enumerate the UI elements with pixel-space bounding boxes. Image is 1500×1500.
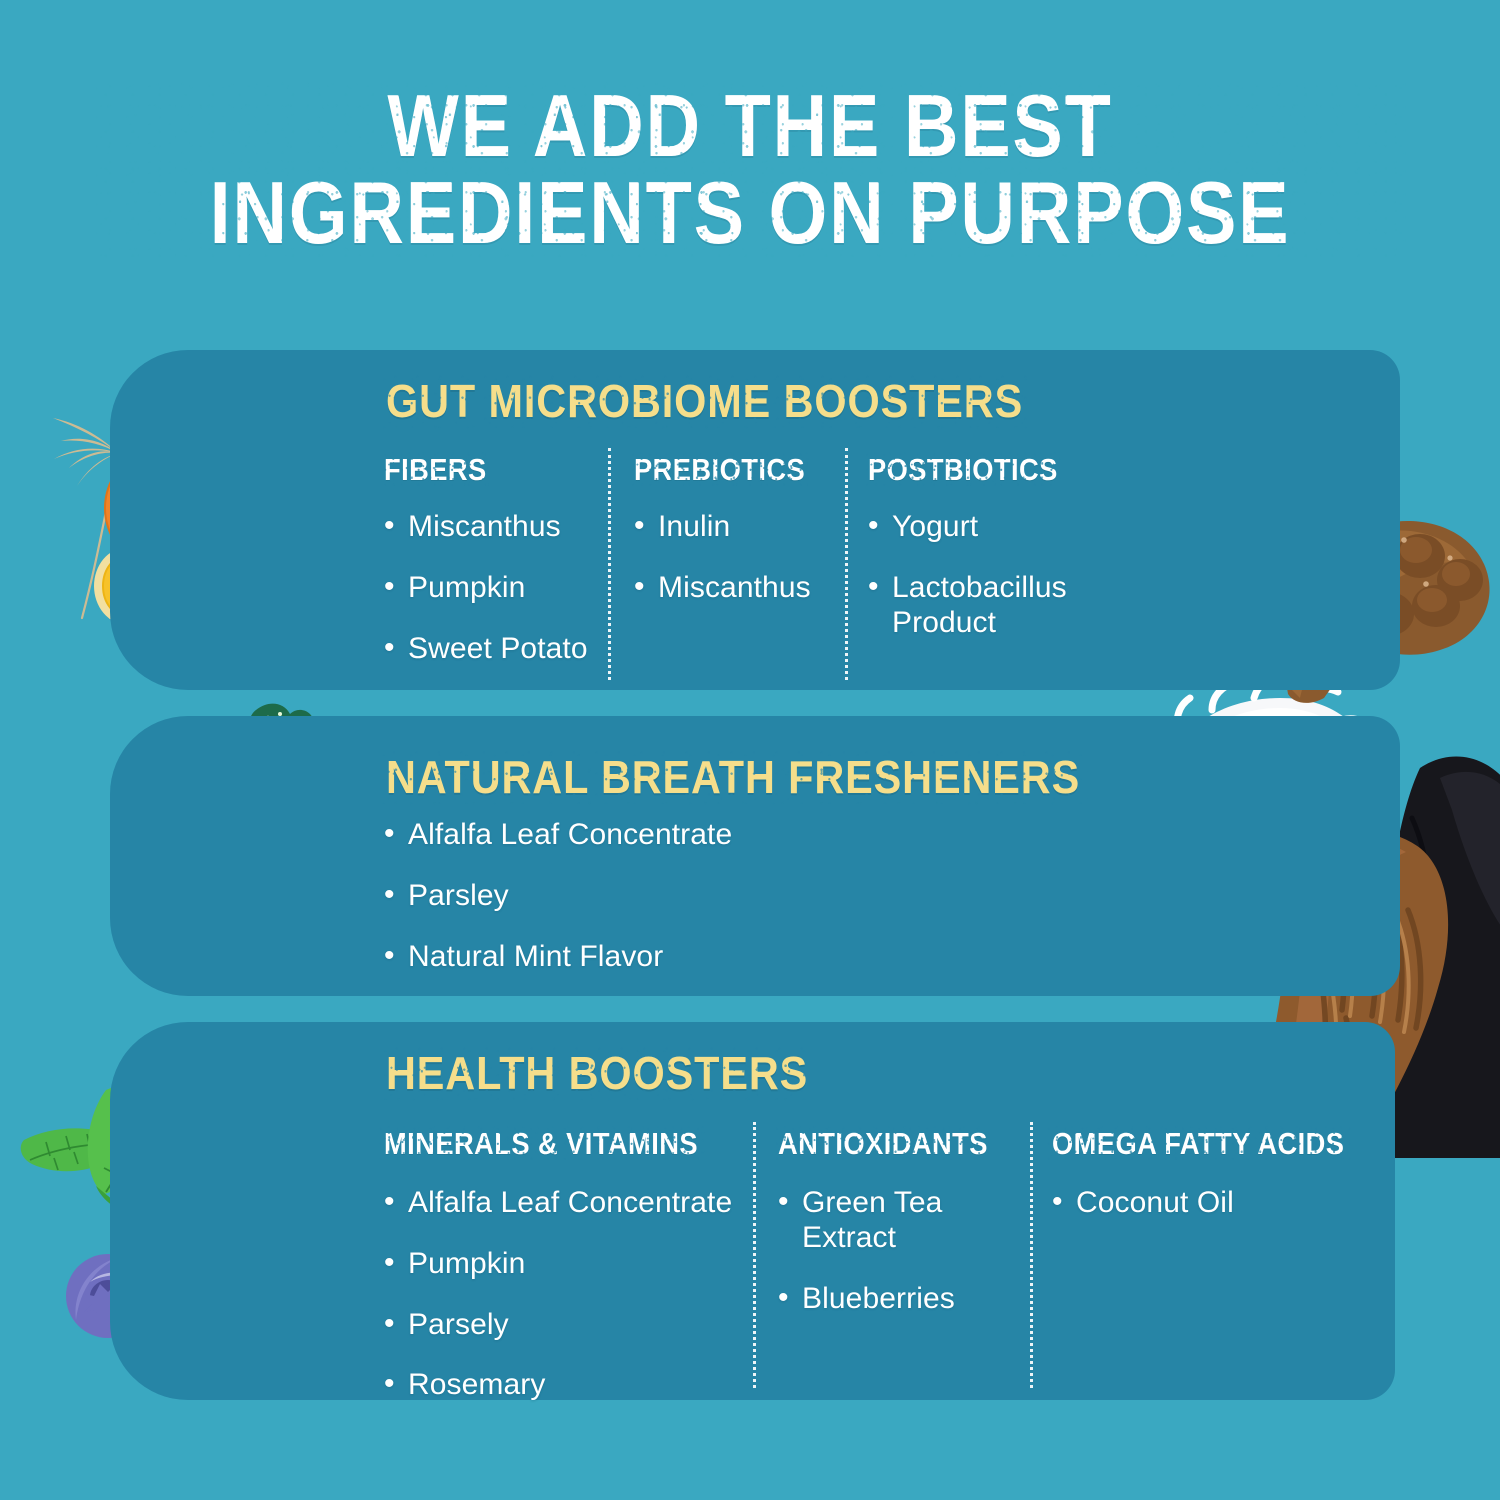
list-item: Rosemary bbox=[384, 1368, 739, 1403]
card3-col1-items: Alfalfa Leaf Concentrate Pumpkin Parsely… bbox=[384, 1186, 739, 1403]
card3-col2-items: Green Tea Extract Blueberries bbox=[778, 1186, 1003, 1316]
list-item: Parsely bbox=[384, 1308, 739, 1343]
list-item: Miscanthus bbox=[384, 510, 599, 545]
card1-col1-items: Miscanthus Pumpkin Sweet Potato bbox=[384, 510, 599, 666]
card1-heading: GUT MICROBIOME BOOSTERS bbox=[386, 374, 1023, 428]
list-item: Yogurt bbox=[868, 510, 1098, 545]
card1-col2-items: Inulin Miscanthus bbox=[634, 510, 834, 606]
list-item: Pumpkin bbox=[384, 1247, 739, 1282]
list-item: Pumpkin bbox=[384, 571, 599, 606]
card3-column-antioxidants: ANTIOXIDANTS Green Tea Extract Blueberri… bbox=[778, 1126, 1003, 1342]
card1-col3-items: Yogurt Lactobacillus Product bbox=[868, 510, 1098, 640]
card3-col3-items: Coconut Oil bbox=[1052, 1186, 1372, 1221]
list-item: Alfalfa Leaf Concentrate bbox=[384, 1186, 739, 1221]
list-item: Coconut Oil bbox=[1052, 1186, 1372, 1221]
card3-heading: HEALTH BOOSTERS bbox=[386, 1046, 808, 1100]
list-item: Blueberries bbox=[778, 1282, 1003, 1317]
card2-column-items: Alfalfa Leaf Concentrate Parsley Natural… bbox=[384, 818, 1004, 1000]
page-title: WE ADD THE BEST INGREDIENTS ON PURPOSE bbox=[105, 82, 1395, 256]
card1-divider-2 bbox=[845, 448, 848, 680]
card1-column-prebiotics: PREBIOTICS Inulin Miscanthus bbox=[634, 452, 834, 632]
card1-heading-wrap: GUT MICROBIOME BOOSTERS bbox=[386, 374, 1094, 428]
list-item: Alfalfa Leaf Concentrate bbox=[384, 818, 1004, 853]
card1-col2-header: PREBIOTICS bbox=[634, 452, 805, 488]
list-item: Parsley bbox=[384, 879, 1004, 914]
list-item: Miscanthus bbox=[634, 571, 834, 606]
card1-column-fibers: FIBERS Miscanthus Pumpkin Sweet Potato bbox=[384, 452, 599, 692]
card3-column-minerals-vitamins: MINERALS & VITAMINS Alfalfa Leaf Concent… bbox=[384, 1126, 739, 1429]
card3-col2-header: ANTIOXIDANTS bbox=[778, 1126, 988, 1162]
card3-col3-header: OMEGA FATTY ACIDS bbox=[1052, 1126, 1344, 1162]
list-item: Sweet Potato bbox=[384, 632, 599, 667]
card3-divider-2 bbox=[1030, 1122, 1033, 1388]
card1-col1-header: FIBERS bbox=[384, 452, 487, 488]
card1-column-postbiotics: POSTBIOTICS Yogurt Lactobacillus Product bbox=[868, 452, 1098, 666]
card3-column-omega-fatty-acids: OMEGA FATTY ACIDS Coconut Oil bbox=[1052, 1126, 1372, 1247]
list-item: Natural Mint Flavor bbox=[384, 940, 1004, 975]
list-item: Lactobacillus Product bbox=[868, 571, 1098, 641]
card3-col1-header: MINERALS & VITAMINS bbox=[384, 1126, 698, 1162]
list-item: Green Tea Extract bbox=[778, 1186, 1003, 1256]
infographic-canvas: WE ADD THE BEST INGREDIENTS ON PURPOSE bbox=[0, 0, 1500, 1500]
card3-heading-wrap: HEALTH BOOSTERS bbox=[386, 1046, 855, 1100]
card1-divider-1 bbox=[608, 448, 611, 680]
page-title-line-1: WE ADD THE BEST bbox=[105, 82, 1395, 169]
card3-divider-1 bbox=[753, 1122, 756, 1388]
card2-heading-wrap: NATURAL BREATH FRESHENERS bbox=[386, 750, 1157, 804]
page-title-line-2: INGREDIENTS ON PURPOSE bbox=[105, 169, 1395, 256]
list-item: Inulin bbox=[634, 510, 834, 545]
card2-heading: NATURAL BREATH FRESHENERS bbox=[386, 750, 1080, 804]
card2-items: Alfalfa Leaf Concentrate Parsley Natural… bbox=[384, 818, 1004, 974]
card1-col3-header: POSTBIOTICS bbox=[868, 452, 1058, 488]
